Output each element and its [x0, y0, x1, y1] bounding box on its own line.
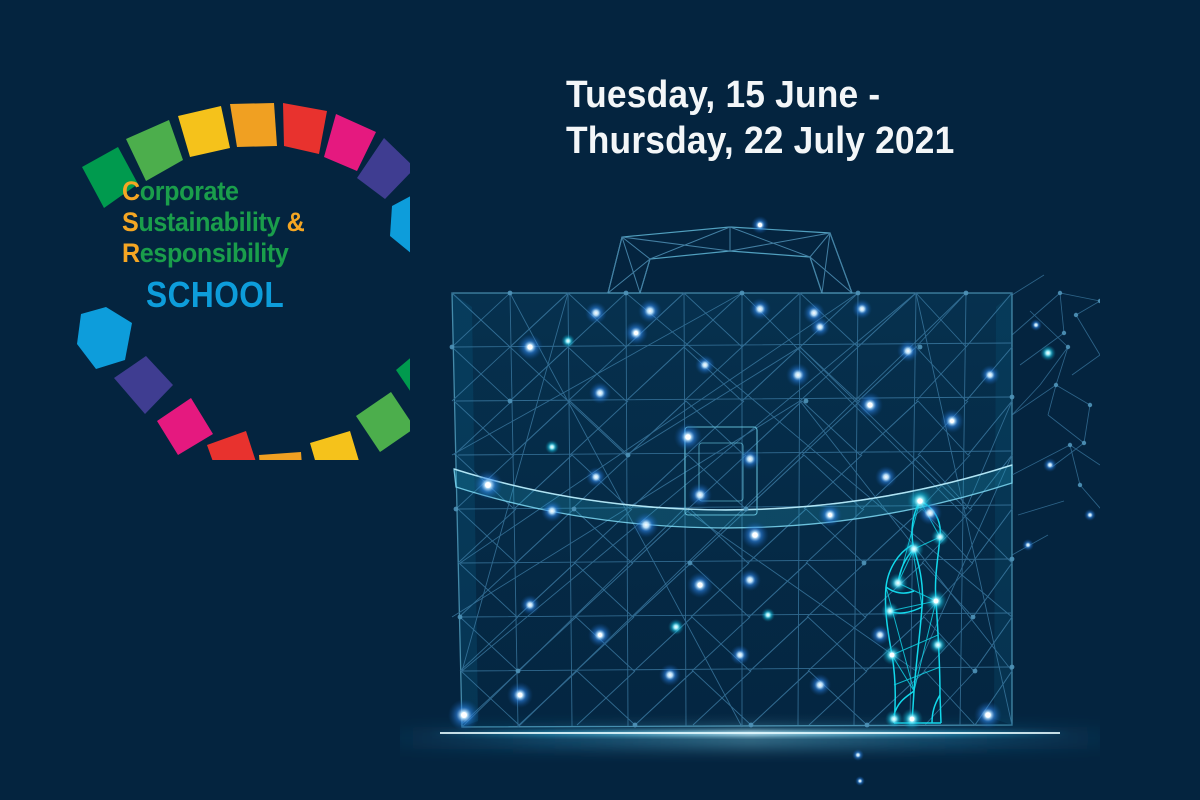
- logo-cap-c: C: [122, 176, 140, 206]
- low-poly-briefcase-illustration: [400, 215, 1100, 800]
- event-banner: Corporate Sustainability & Responsibilit…: [0, 0, 1200, 800]
- logo-line-responsibility: Responsibility: [122, 240, 392, 267]
- sdg-segment-bottom-5: [259, 452, 304, 460]
- sdg-segment-top-2: [126, 120, 183, 181]
- logo-wordmark: Corporate Sustainability & Responsibilit…: [122, 178, 412, 313]
- sdg-segment-top-4: [230, 103, 277, 147]
- event-date-range: Tuesday, 15 June - Thursday, 22 July 202…: [566, 72, 1126, 165]
- logo-cap-s: S: [122, 207, 138, 237]
- logo-ampersand: &: [280, 207, 304, 237]
- date-line-2: Thursday, 22 July 2021: [566, 118, 1087, 164]
- sdg-segment-bottom-6: [310, 431, 362, 460]
- sdg-arrowhead-bottom: [77, 307, 132, 369]
- sdg-segment-top-3: [178, 106, 230, 157]
- sdg-bottom-arc: [77, 307, 410, 460]
- logo-rest-sustainability: ustainability: [138, 207, 280, 237]
- logo-line-sustainability: Sustainability &: [122, 209, 392, 236]
- sdg-segment-bottom-4: [207, 431, 259, 460]
- logo-line-corporate: Corporate: [122, 178, 392, 205]
- briefcase-handle: [608, 227, 852, 293]
- csr-school-logo: Corporate Sustainability & Responsibilit…: [60, 60, 410, 460]
- sdg-segment-bottom-2: [114, 356, 173, 414]
- logo-rest-corporate: orporate: [140, 176, 239, 206]
- sdg-segment-top-5: [283, 103, 327, 154]
- logo-school-word: SCHOOL: [146, 277, 380, 313]
- sdg-segment-bottom-3: [157, 398, 213, 455]
- base-glow: [400, 727, 1100, 749]
- date-line-1: Tuesday, 15 June -: [566, 72, 1087, 118]
- logo-cap-r: R: [122, 238, 140, 268]
- logo-rest-responsibility: esponsibility: [140, 238, 289, 268]
